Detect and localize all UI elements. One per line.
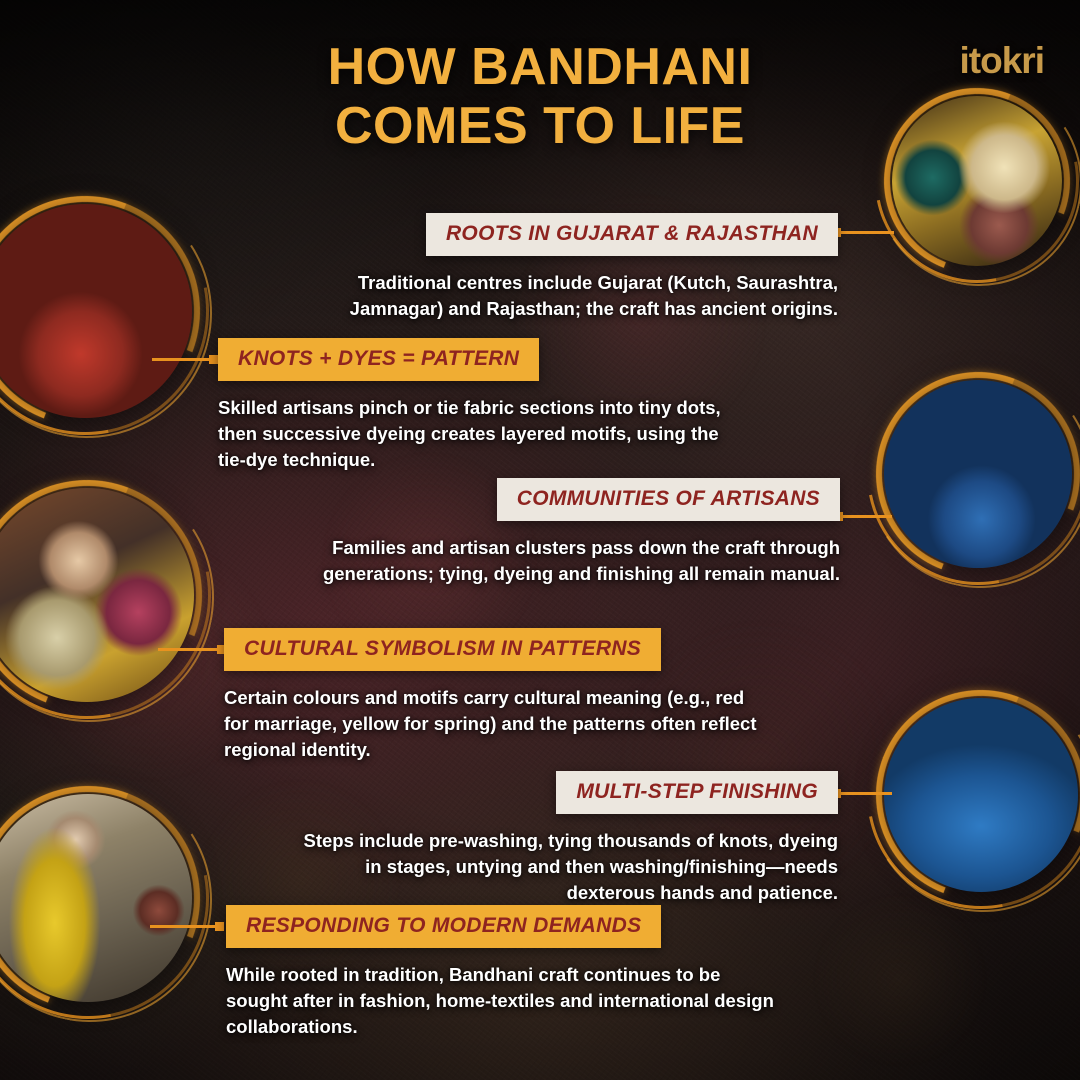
itokri-logo[interactable]: itokri xyxy=(960,40,1044,82)
page-title: HOW BANDHANI COMES TO LIFE xyxy=(0,38,1080,156)
step-badge-symbolism[interactable]: CULTURAL SYMBOLISM IN PATTERNS xyxy=(224,628,661,671)
step-body-modern-demands: While rooted in tradition, Bandhani craf… xyxy=(226,962,782,1040)
photo-artisan-woman-seated xyxy=(0,488,194,702)
step-communities: COMMUNITIES OF ARTISANS Families and art… xyxy=(240,478,840,587)
step-badge-finishing[interactable]: MULTI-STEP FINISHING xyxy=(556,771,838,814)
step-body-finishing: Steps include pre-washing, tying thousan… xyxy=(300,828,838,906)
connector-roots xyxy=(836,231,894,234)
photo-artisan-lifting-yellow-cloth xyxy=(0,794,192,1002)
connector-finishing xyxy=(836,792,892,795)
step-finishing: MULTI-STEP FINISHING Steps include pre-w… xyxy=(300,771,838,906)
step-modern-demands: RESPONDING TO MODERN DEMANDS While roote… xyxy=(226,905,782,1040)
photo-hands-tying-red-fabric xyxy=(0,204,192,418)
step-badge-roots[interactable]: ROOTS IN GUJARAT & RAJASTHAN xyxy=(426,213,838,256)
connector-symbolism xyxy=(158,648,222,651)
step-body-roots: Traditional centres include Gujarat (Kut… xyxy=(276,270,838,322)
connector-node xyxy=(209,355,218,364)
step-badge-modern-demands[interactable]: RESPONDING TO MODERN DEMANDS xyxy=(226,905,661,948)
step-body-communities: Families and artisan clusters pass down … xyxy=(240,535,840,587)
connector-knots-dyes xyxy=(152,358,214,361)
connector-modern-demands xyxy=(150,925,220,928)
step-badge-communities[interactable]: COMMUNITIES OF ARTISANS xyxy=(497,478,840,521)
infographic-poster: itokri HOW BANDHANI COMES TO LIFE xyxy=(0,0,1080,1080)
title-line-2: COMES TO LIFE xyxy=(0,97,1080,156)
step-body-symbolism: Certain colours and motifs carry cultura… xyxy=(224,685,772,763)
step-body-knots-dyes: Skilled artisans pinch or tie fabric sec… xyxy=(218,395,748,473)
photo-dyer-at-blue-vat xyxy=(884,380,1072,568)
connector-communities xyxy=(838,515,892,518)
step-symbolism: CULTURAL SYMBOLISM IN PATTERNS Certain c… xyxy=(224,628,772,763)
step-roots: ROOTS IN GUJARAT & RAJASTHAN Traditional… xyxy=(276,213,838,322)
connector-node xyxy=(215,922,224,931)
step-badge-knots-dyes[interactable]: KNOTS + DYES = PATTERN xyxy=(218,338,539,381)
step-knots-dyes: KNOTS + DYES = PATTERN Skilled artisans … xyxy=(218,338,748,473)
title-line-1: HOW BANDHANI xyxy=(0,38,1080,97)
photo-cloth-bundles-in-dye xyxy=(884,698,1078,892)
